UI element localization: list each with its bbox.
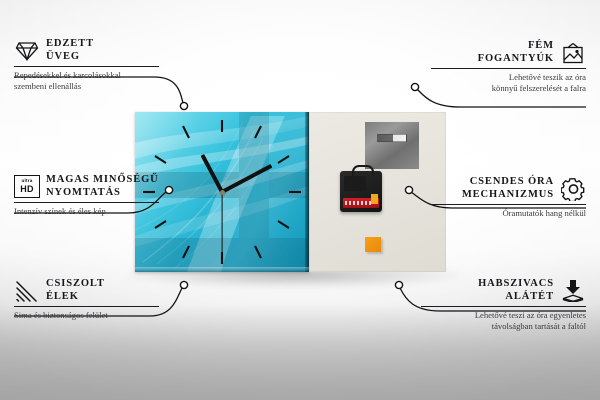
callout-rule bbox=[431, 204, 586, 205]
callout-edzett-uveg: EDZETT ÜVEG Repedésekkel és karcolásokka… bbox=[14, 38, 159, 92]
diamond-icon bbox=[14, 39, 40, 63]
battery-label bbox=[345, 201, 371, 205]
mechanism-plate bbox=[344, 176, 366, 191]
callout-habszivacs-alatet: HABSZIVACS ALÁTÉT Lehetővé teszi az óra … bbox=[421, 278, 586, 332]
callout-title: MAGAS MINŐSÉGŰ NYOMTATÁS bbox=[46, 174, 159, 199]
product-infographic: EDZETT ÜVEG Repedésekkel és karcolásokka… bbox=[0, 0, 600, 400]
callout-desc-line1: Lehetővé teszi az óra egyenletes bbox=[421, 310, 586, 321]
callout-header: CSENDES ÓRA MECHANIZMUS bbox=[431, 176, 586, 201]
ultra-hd-icon-bottom: HD bbox=[20, 185, 34, 194]
callout-title: HABSZIVACS ALÁTÉT bbox=[478, 278, 554, 303]
callout-rule bbox=[431, 68, 586, 69]
callout-rule bbox=[14, 66, 159, 67]
callout-fem-foganytuk: FÉM FOGANTYÚK Lehetővé teszik az óra kön… bbox=[431, 40, 586, 94]
callout-header: FÉM FOGANTYÚK bbox=[431, 40, 586, 65]
mechanism-loop bbox=[352, 165, 374, 176]
clock-hub bbox=[220, 190, 225, 195]
callout-title: EDZETT ÜVEG bbox=[46, 38, 94, 63]
callout-header: CSISZOLT ÉLEK bbox=[14, 278, 159, 303]
callout-rule bbox=[14, 306, 159, 307]
second-hand bbox=[221, 192, 222, 260]
picture-hanger-icon bbox=[560, 41, 586, 65]
callout-header: ultra HD MAGAS MINŐSÉGŰ NYOMTATÁS bbox=[14, 174, 159, 199]
callout-desc-line1: Repedésekkel és karcolásokkal bbox=[14, 70, 159, 81]
callout-title: CSISZOLT ÉLEK bbox=[46, 278, 105, 303]
foam-pad-icon bbox=[560, 279, 586, 303]
callout-desc-line2: szembeni ellenállás bbox=[14, 81, 159, 92]
callout-rule bbox=[14, 202, 159, 203]
bevelled-edges-icon bbox=[14, 279, 40, 303]
product-image bbox=[135, 112, 446, 272]
ultra-hd-icon: ultra HD bbox=[14, 175, 40, 199]
glass-bottom-edge bbox=[135, 267, 309, 272]
clock-mechanism bbox=[340, 171, 382, 212]
callout-rule bbox=[421, 306, 586, 307]
battery-plus-terminal bbox=[371, 194, 378, 204]
callout-header: EDZETT ÜVEG bbox=[14, 38, 159, 63]
callout-desc-line1: Sima és biztonságos felület bbox=[14, 310, 159, 321]
callout-desc-line2: távolságban tartását a faltól bbox=[421, 321, 586, 332]
callout-csiszolt-elek: CSISZOLT ÉLEK Sima és biztonságos felüle… bbox=[14, 278, 159, 321]
callout-title: FÉM FOGANTYÚK bbox=[478, 40, 554, 65]
hanger-slot bbox=[376, 134, 407, 142]
callout-desc-line1: Intenzív színek és éles kép bbox=[14, 206, 159, 217]
callout-magas-minosegu-nyomtatas: ultra HD MAGAS MINŐSÉGŰ NYOMTATÁS Intenz… bbox=[14, 174, 159, 217]
battery bbox=[343, 198, 379, 208]
callout-desc-line1: Óramutatók hang nélkül bbox=[431, 208, 586, 219]
callout-title: CSENDES ÓRA MECHANIZMUS bbox=[462, 176, 554, 201]
clock-face bbox=[135, 112, 309, 272]
foam-pad bbox=[365, 237, 381, 252]
clock-back-panel bbox=[309, 112, 446, 272]
metal-hanger bbox=[365, 122, 419, 169]
callout-csendes-ora-mechanizmus: CSENDES ÓRA MECHANIZMUS Óramutatók hang … bbox=[431, 176, 586, 219]
gear-icon bbox=[560, 177, 586, 201]
callout-desc-line2: könnyű felszerelését a falra bbox=[431, 83, 586, 94]
callout-header: HABSZIVACS ALÁTÉT bbox=[421, 278, 586, 303]
callout-desc-line1: Lehetővé teszik az óra bbox=[431, 72, 586, 83]
